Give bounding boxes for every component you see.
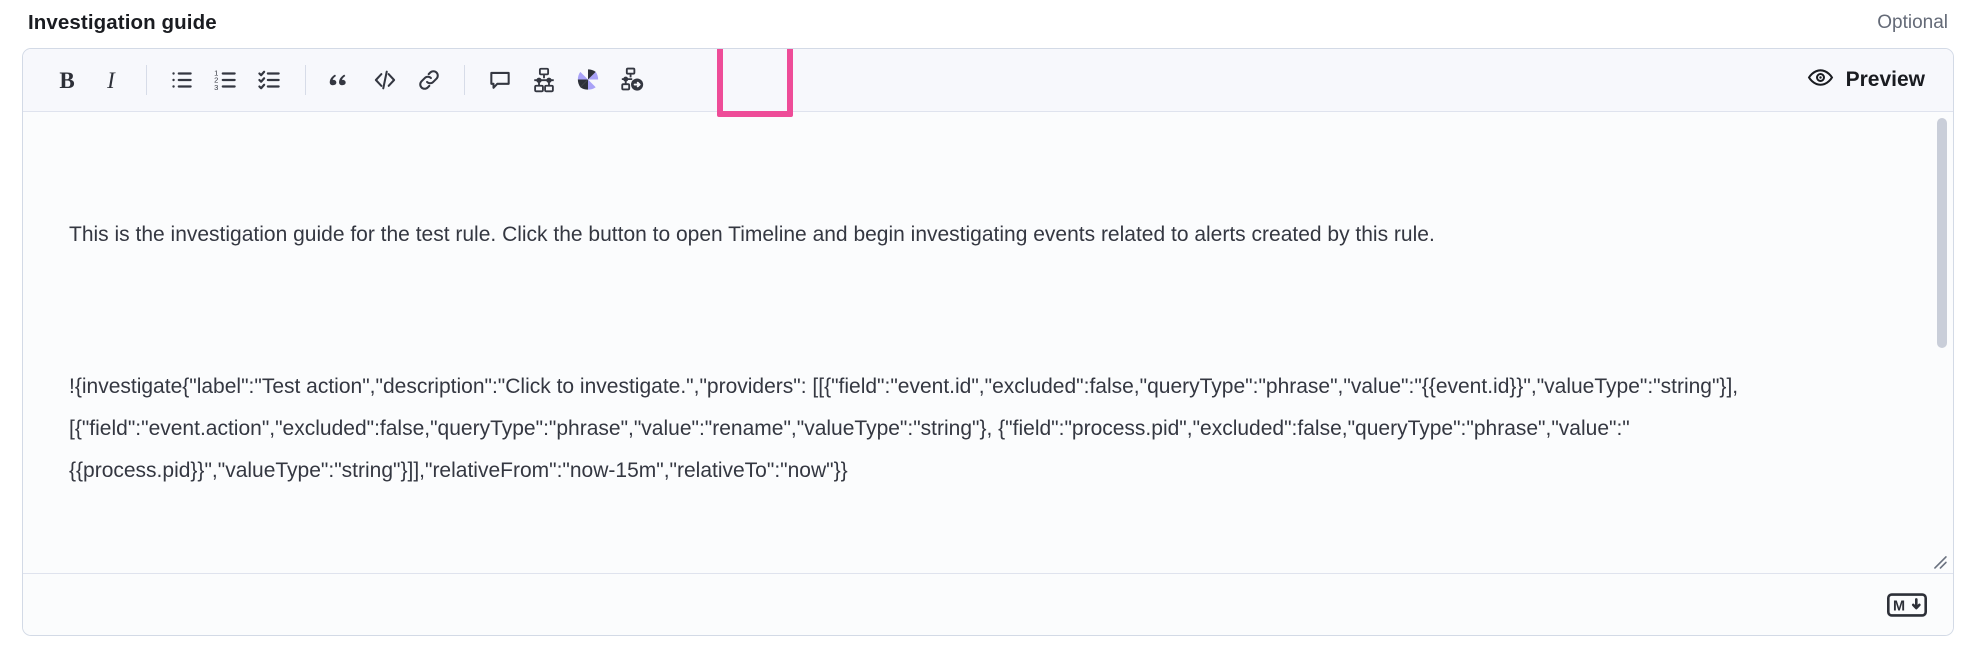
code-button[interactable] bbox=[363, 58, 407, 102]
text-format-group: B I bbox=[45, 58, 133, 102]
markdown-icon[interactable]: M bbox=[1887, 592, 1927, 618]
timeline-button[interactable] bbox=[522, 58, 566, 102]
ordered-list-button[interactable]: 1 2 3 bbox=[204, 58, 248, 102]
list-group: 1 2 3 bbox=[160, 58, 292, 102]
comment-button[interactable] bbox=[478, 58, 522, 102]
link-button[interactable] bbox=[407, 58, 451, 102]
field-header: Investigation guide Optional bbox=[0, 0, 1976, 46]
preview-label: Preview bbox=[1846, 68, 1925, 92]
italic-button[interactable]: I bbox=[89, 58, 133, 102]
markdown-textarea[interactable]: This is the investigation guide for the … bbox=[23, 112, 1953, 573]
toolbar-divider bbox=[305, 65, 306, 95]
editor-toolbar: B I bbox=[23, 49, 1953, 112]
insert-group bbox=[319, 58, 451, 102]
ordered-list-icon: 1 2 3 bbox=[213, 67, 239, 93]
svg-text:M: M bbox=[1893, 598, 1905, 614]
insert-timeline-button[interactable] bbox=[610, 58, 654, 102]
unordered-list-button[interactable] bbox=[160, 58, 204, 102]
toolbar-divider bbox=[464, 65, 465, 95]
osquery-icon bbox=[574, 66, 602, 94]
resize-handle-icon[interactable] bbox=[1926, 548, 1948, 570]
eye-icon bbox=[1807, 64, 1834, 97]
task-list-icon bbox=[257, 67, 283, 93]
insert-timeline-button-icon bbox=[619, 67, 645, 93]
highlight-annotation bbox=[717, 48, 793, 117]
bold-button[interactable]: B bbox=[45, 58, 89, 102]
osquery-button[interactable] bbox=[566, 58, 610, 102]
editor-footer: M bbox=[23, 573, 1953, 635]
timeline-icon bbox=[531, 67, 557, 93]
link-icon bbox=[416, 67, 442, 93]
editor-scrollbar-thumb[interactable] bbox=[1937, 118, 1947, 348]
optional-label: Optional bbox=[1877, 12, 1948, 34]
editor-scrollbar[interactable] bbox=[1937, 118, 1947, 567]
code-icon bbox=[372, 67, 398, 93]
guide-paragraph-1: This is the investigation guide for the … bbox=[69, 214, 1913, 256]
editor-body[interactable]: This is the investigation guide for the … bbox=[23, 112, 1953, 573]
comment-icon bbox=[487, 67, 513, 93]
svg-text:3: 3 bbox=[214, 83, 218, 92]
preview-button[interactable]: Preview bbox=[1795, 60, 1937, 101]
page-title: Investigation guide bbox=[28, 11, 217, 35]
quote-icon bbox=[328, 67, 354, 93]
italic-icon: I bbox=[107, 69, 115, 92]
toolbar-divider bbox=[146, 65, 147, 95]
unordered-list-icon bbox=[169, 67, 195, 93]
quote-button[interactable] bbox=[319, 58, 363, 102]
markdown-editor: B I bbox=[22, 48, 1954, 636]
security-plugins-group bbox=[478, 58, 654, 102]
guide-paragraph-2: !{investigate{"label":"Test action","des… bbox=[69, 366, 1913, 492]
task-list-button[interactable] bbox=[248, 58, 292, 102]
bold-icon: B bbox=[59, 69, 74, 92]
